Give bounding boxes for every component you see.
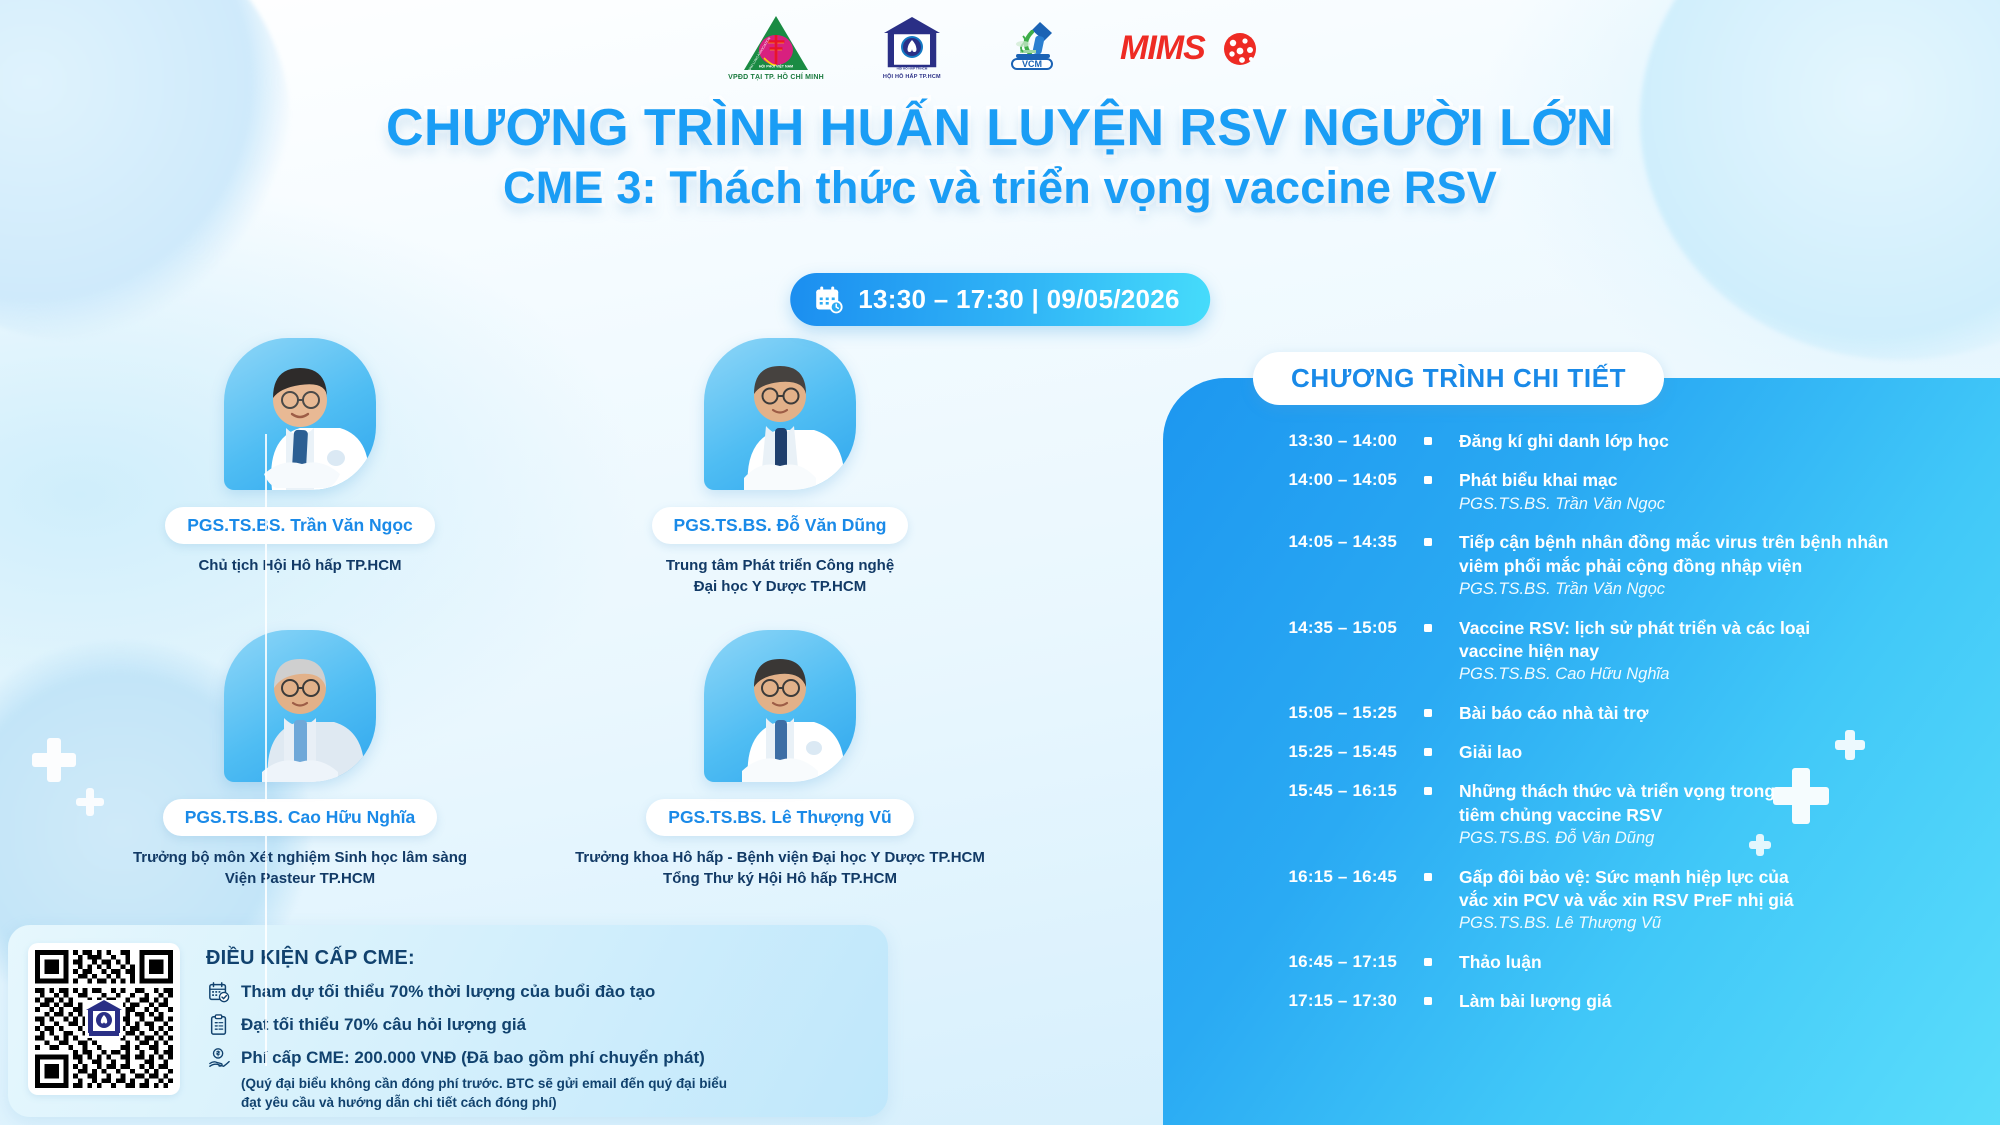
agenda-bullet-cell <box>1397 780 1459 795</box>
cme-condition-row: Phí cấp CME: 200.000 VNĐ (Đã bao gồm phí… <box>206 1047 727 1069</box>
respiratory-society-mark: HỘI HÔ HẤP TP.HCM <box>880 14 944 72</box>
agenda-bullet-icon <box>1424 873 1432 881</box>
agenda-bullet-cell <box>1397 469 1459 484</box>
calendar-clock-icon <box>814 285 844 315</box>
agenda-time: 15:25 – 15:45 <box>1249 741 1397 762</box>
agenda-row: 15:45 – 16:15 Những thách thức và triển … <box>1249 780 2000 849</box>
agenda-speaker: PGS.TS.BS. Trần Văn Ngọc <box>1459 579 2000 601</box>
agenda-title: Bài báo cáo nhà tài trợ <box>1459 702 2000 725</box>
speaker-portrait-4 <box>704 630 856 782</box>
agenda-bullet-cell <box>1397 951 1459 966</box>
speaker-name-1: PGS.TS.BS. Trần Văn Ngọc <box>165 507 435 544</box>
hcmc-respiratory-society-logo: HỘI HÔ HẤP TP.HCM HỘI HÔ HẤP TP.HCM <box>880 14 944 80</box>
agenda-timeline-line <box>265 434 267 1066</box>
cme-condition-text: Tham dự tối thiểu 70% thời lượng của buổ… <box>241 982 655 1002</box>
mims-logo: MIMS <box>1120 14 1272 68</box>
vietnam-lung-association-logo: HỘI PHỔI VIỆT NAM VIET NAM LUNG ASSOCIAT… <box>728 14 824 81</box>
lung-association-caption: VPĐD TẠI TP. HỒ CHÍ MINH <box>728 74 824 81</box>
agenda-title: Những thách thức và triển vọng trong tiê… <box>1459 780 2000 827</box>
agenda-body: Giải lao <box>1459 741 2000 764</box>
qr-code-grid <box>35 950 173 1088</box>
agenda-time: 15:45 – 16:15 <box>1249 780 1397 801</box>
speaker-photo-3 <box>224 630 376 782</box>
speaker-card-3: PGS.TS.BS. Cao Hữu Nghĩa Trưởng bộ môn X… <box>60 630 540 890</box>
agenda-bullet-cell <box>1397 866 1459 881</box>
agenda-speaker: PGS.TS.BS. Lê Thượng Vũ <box>1459 913 2000 935</box>
agenda-heading-text: CHƯƠNG TRÌNH CHI TIẾT <box>1291 363 1626 393</box>
title-block: CHƯƠNG TRÌNH HUẤN LUYỆN RSV NGƯỜI LỚN CM… <box>0 100 2000 213</box>
agenda-body: Phát biểu khai mạc PGS.TS.BS. Trần Văn N… <box>1459 469 2000 515</box>
speakers-section: PGS.TS.BS. Trần Văn Ngọc Chủ tịch Hội Hô… <box>60 338 1120 889</box>
agenda-bullet-icon <box>1424 624 1432 632</box>
agenda-bullet-icon <box>1424 997 1432 1005</box>
speakers-row-bottom: PGS.TS.BS. Cao Hữu Nghĩa Trưởng bộ môn X… <box>60 630 1120 890</box>
respiratory-society-caption: HỘI HÔ HẤP TP.HCM <box>883 74 941 80</box>
agenda-speaker: PGS.TS.BS. Đỗ Văn Dũng <box>1459 828 2000 850</box>
poster-title: CHƯƠNG TRÌNH HUẤN LUYỆN RSV NGƯỜI LỚN <box>0 100 2000 156</box>
speaker-name-4: PGS.TS.BS. Lê Thượng Vũ <box>646 799 913 836</box>
agenda-row: 17:15 – 17:30 Làm bài lượng giá <box>1249 990 2000 1013</box>
clipboard-list-icon <box>206 1014 232 1036</box>
agenda-bullet-icon <box>1424 476 1432 484</box>
hand-money-glyph <box>208 1047 230 1069</box>
agenda-bullet-icon <box>1424 538 1432 546</box>
speaker-portrait-1 <box>224 338 376 490</box>
agenda-time: 16:45 – 17:15 <box>1249 951 1397 972</box>
speaker-role-3: Trưởng bộ môn Xét nghiệm Sinh học lâm sà… <box>133 847 467 890</box>
agenda-body: Vaccine RSV: lịch sử phát triển và các l… <box>1459 617 2000 686</box>
agenda-bullet-icon <box>1424 787 1432 795</box>
agenda-title: Vaccine RSV: lịch sử phát triển và các l… <box>1459 617 2000 664</box>
hand-money-icon <box>206 1047 232 1069</box>
speaker-card-1: PGS.TS.BS. Trần Văn Ngọc Chủ tịch Hội Hô… <box>60 338 540 598</box>
agenda-bullet-cell <box>1397 617 1459 632</box>
cme-condition-row: Đạt tối thiểu 70% câu hỏi lượng giá <box>206 1014 727 1036</box>
agenda-row: 15:25 – 15:45 Giải lao <box>1249 741 2000 764</box>
agenda-body: Tiếp cận bệnh nhân đồng mắc virus trên b… <box>1459 531 2000 600</box>
agenda-time: 14:05 – 14:35 <box>1249 531 1397 552</box>
agenda-speaker: PGS.TS.BS. Cao Hữu Nghĩa <box>1459 664 2000 686</box>
agenda-bullet-cell <box>1397 741 1459 756</box>
poster-subtitle: CME 3: Thách thức và triển vọng vaccine … <box>0 163 2000 213</box>
agenda-row: 15:05 – 15:25 Bài báo cáo nhà tài trợ <box>1249 702 2000 725</box>
agenda-body: Đăng kí ghi danh lớp học <box>1459 430 2000 453</box>
agenda-body: Thảo luận <box>1459 951 2000 974</box>
agenda-title: Làm bài lượng giá <box>1459 990 2000 1013</box>
agenda-bullet-icon <box>1424 748 1432 756</box>
speaker-card-2: PGS.TS.BS. Đỗ Văn Dũng Trung tâm Phát tr… <box>540 338 1020 598</box>
cme-body: ĐIỀU KIỆN CẤP CME: Tham dự tối thiểu 70%… <box>206 943 727 1113</box>
date-badge-text: 13:30 – 17:30 | 09/05/2026 <box>858 284 1180 315</box>
speaker-role-4: Trưởng khoa Hô hấp - Bệnh viện Đại học Y… <box>575 847 985 890</box>
microscope-mark: VCM <box>1000 14 1064 72</box>
calendar-check-glyph <box>208 981 230 1003</box>
agenda-heading-pill: CHƯƠNG TRÌNH CHI TIẾT <box>1253 352 1664 405</box>
svg-text:VCM: VCM <box>1022 59 1042 69</box>
cme-condition-row: Tham dự tối thiểu 70% thời lượng của buổ… <box>206 981 727 1003</box>
agenda-time: 14:35 – 15:05 <box>1249 617 1397 638</box>
agenda-bullet-icon <box>1424 709 1432 717</box>
agenda-list: 13:30 – 14:00 Đăng kí ghi danh lớp học 1… <box>1249 430 2000 1030</box>
speaker-role-2: Trung tâm Phát triển Công nghệ Đại học Y… <box>666 555 894 598</box>
speaker-card-4: PGS.TS.BS. Lê Thượng Vũ Trưởng khoa Hô h… <box>540 630 1020 890</box>
agenda-row: 16:45 – 17:15 Thảo luận <box>1249 951 2000 974</box>
agenda-title: Thảo luận <box>1459 951 2000 974</box>
agenda-panel: 13:30 – 14:00 Đăng kí ghi danh lớp học 1… <box>1163 378 2000 1125</box>
lung-association-mark: HỘI PHỔI VIỆT NAM VIET NAM LUNG ASSOCIAT… <box>742 14 810 72</box>
svg-text:HỘI HÔ HẤP TP.HCM: HỘI HÔ HẤP TP.HCM <box>897 66 928 71</box>
cme-title: ĐIỀU KIỆN CẤP CME: <box>206 947 727 970</box>
cme-condition-text: Đạt tối thiểu 70% câu hỏi lượng giá <box>241 1015 526 1035</box>
speaker-portrait-3 <box>224 630 376 782</box>
agenda-title: Gấp đôi bảo vệ: Sức mạnh hiệp lực của vắ… <box>1459 866 2000 913</box>
agenda-time: 13:30 – 14:00 <box>1249 430 1397 451</box>
poster-canvas: HỘI PHỔI VIỆT NAM VIET NAM LUNG ASSOCIAT… <box>0 0 2000 1125</box>
agenda-title: Đăng kí ghi danh lớp học <box>1459 430 2000 453</box>
agenda-body: Làm bài lượng giá <box>1459 990 2000 1013</box>
vcm-microscope-logo: VCM <box>1000 14 1064 72</box>
plus-decoration-left-large <box>32 738 76 782</box>
speakers-row-top: PGS.TS.BS. Trần Văn Ngọc Chủ tịch Hội Hô… <box>60 338 1120 598</box>
agenda-row: 13:30 – 14:00 Đăng kí ghi danh lớp học <box>1249 430 2000 453</box>
agenda-title: Giải lao <box>1459 741 2000 764</box>
agenda-row: 14:05 – 14:35 Tiếp cận bệnh nhân đồng mắ… <box>1249 531 2000 600</box>
qr-code-icon[interactable] <box>28 943 180 1095</box>
plus-decoration-left-small <box>76 788 104 816</box>
speaker-photo-1 <box>224 338 376 490</box>
clipboard-list-glyph <box>208 1014 230 1036</box>
agenda-time: 14:00 – 14:05 <box>1249 469 1397 490</box>
agenda-bullet-cell <box>1397 430 1459 445</box>
cme-condition-text: Phí cấp CME: 200.000 VNĐ (Đã bao gồm phí… <box>241 1048 705 1068</box>
agenda-bullet-cell <box>1397 702 1459 717</box>
speaker-name-2: PGS.TS.BS. Đỗ Văn Dũng <box>652 507 909 544</box>
mims-wordmark: MIMS <box>1120 28 1272 68</box>
qr-center-logo <box>81 996 127 1042</box>
agenda-time: 15:05 – 15:25 <box>1249 702 1397 723</box>
speaker-role-1: Chủ tịch Hội Hô hấp TP.HCM <box>198 555 401 576</box>
cme-note: (Quý đại biểu không cần đóng phí trước. … <box>241 1075 727 1113</box>
agenda-bullet-icon <box>1424 958 1432 966</box>
cme-conditions-box: ĐIỀU KIỆN CẤP CME: Tham dự tối thiểu 70%… <box>8 925 888 1117</box>
speaker-photo-4 <box>704 630 856 782</box>
agenda-title: Tiếp cận bệnh nhân đồng mắc virus trên b… <box>1459 531 2000 578</box>
logo-bar: HỘI PHỔI VIỆT NAM VIET NAM LUNG ASSOCIAT… <box>0 14 2000 81</box>
agenda-body: Bài báo cáo nhà tài trợ <box>1459 702 2000 725</box>
agenda-title: Phát biểu khai mạc <box>1459 469 2000 492</box>
speaker-portrait-2 <box>704 338 856 490</box>
svg-text:HỘI PHỔI VIỆT NAM: HỘI PHỔI VIỆT NAM <box>759 64 793 69</box>
speaker-name-3: PGS.TS.BS. Cao Hữu Nghĩa <box>163 799 437 836</box>
agenda-speaker: PGS.TS.BS. Trần Văn Ngọc <box>1459 494 2000 516</box>
agenda-row: 14:00 – 14:05 Phát biểu khai mạc PGS.TS.… <box>1249 469 2000 515</box>
calendar-check-icon <box>206 981 232 1003</box>
svg-text:MIMS: MIMS <box>1120 29 1206 67</box>
date-badge: 13:30 – 17:30 | 09/05/2026 <box>790 273 1210 326</box>
agenda-body: Gấp đôi bảo vệ: Sức mạnh hiệp lực của vắ… <box>1459 866 2000 935</box>
agenda-time: 17:15 – 17:30 <box>1249 990 1397 1011</box>
agenda-time: 16:15 – 16:45 <box>1249 866 1397 887</box>
agenda-body: Những thách thức và triển vọng trong tiê… <box>1459 780 2000 849</box>
speaker-photo-2 <box>704 338 856 490</box>
agenda-row: 16:15 – 16:45 Gấp đôi bảo vệ: Sức mạnh h… <box>1249 866 2000 935</box>
agenda-bullet-cell <box>1397 531 1459 546</box>
agenda-row: 14:35 – 15:05 Vaccine RSV: lịch sử phát … <box>1249 617 2000 686</box>
agenda-bullet-icon <box>1424 437 1432 445</box>
agenda-bullet-cell <box>1397 990 1459 1005</box>
